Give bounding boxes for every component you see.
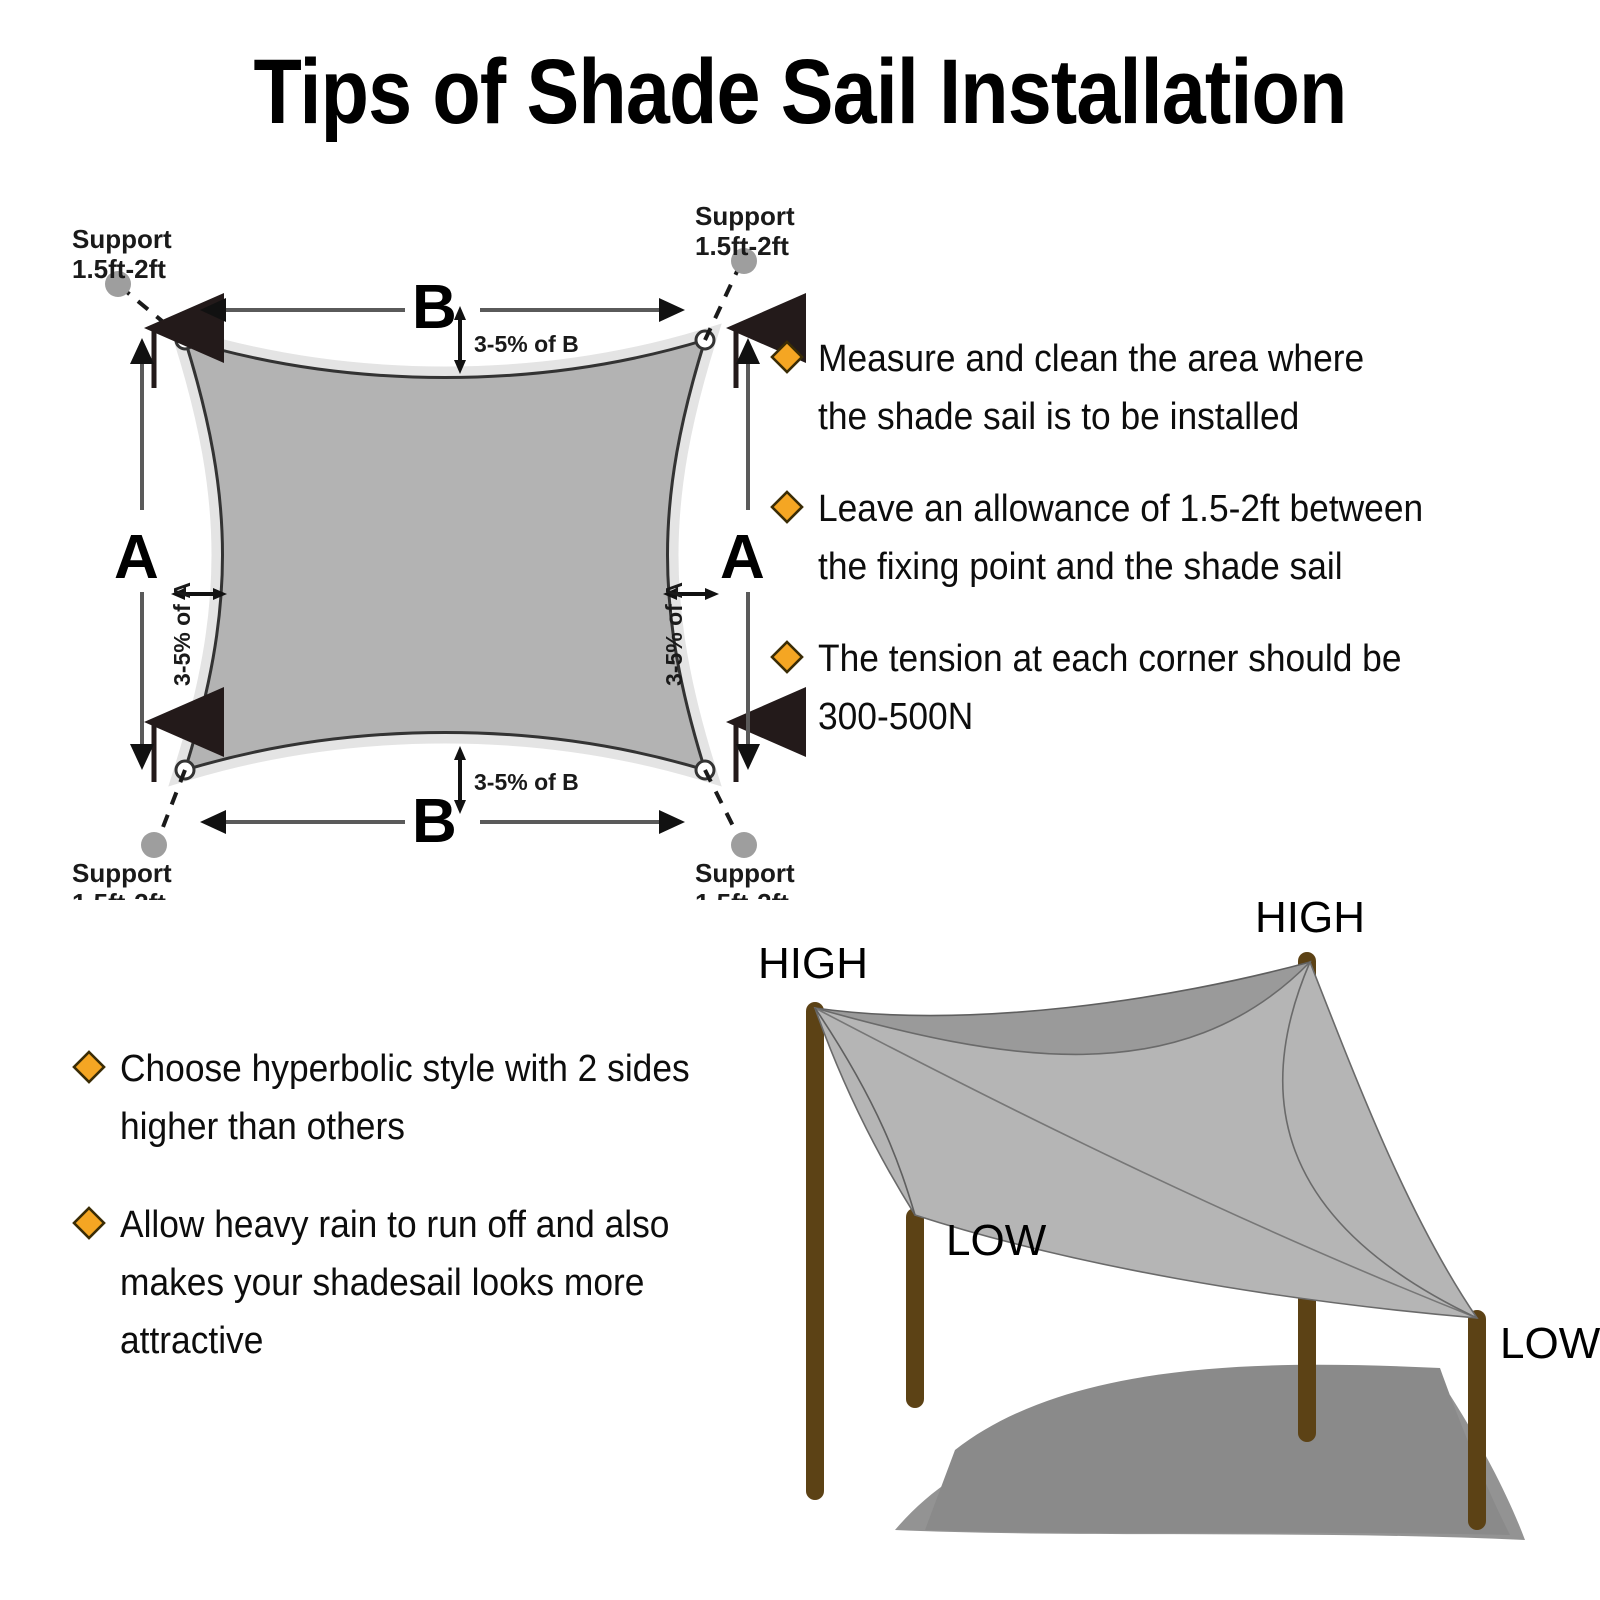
curve-indicator-bottom: 3-5% of B	[454, 746, 579, 814]
diamond-bullet-icon	[770, 490, 804, 524]
tip-item-rain-runoff: Allow heavy rain to run off and also mak…	[72, 1196, 782, 1370]
support-label-top-left-line1: Support	[72, 224, 172, 254]
tip-text: Leave an allowance of 1.5-2ft between th…	[818, 480, 1423, 596]
label-low-left: LOW	[946, 1216, 1047, 1265]
support-label-bottom-right-line1: Support	[695, 858, 795, 888]
support-label-top-right-line1: Support	[695, 201, 795, 231]
post-high-left	[806, 1002, 824, 1500]
ground-shadow-core	[925, 1365, 1510, 1535]
curve-label-bottom: 3-5% of B	[474, 769, 579, 795]
label-high-left: HIGH	[758, 939, 868, 988]
tips-list-right: Measure and clean the area where the sha…	[770, 330, 1570, 780]
dimension-a-right: A	[720, 338, 765, 770]
dimension-label-a-right: A	[720, 523, 765, 592]
dimension-a-left: A	[114, 338, 159, 770]
support-label-top-right-line2: 1.5ft-2ft	[695, 231, 789, 261]
label-high-right: HIGH	[1255, 893, 1365, 942]
tip-text: The tension at each corner should be 300…	[818, 630, 1402, 746]
diamond-bullet-icon	[770, 640, 804, 674]
tip-item-hyperbolic-style: Choose hyperbolic style with 2 sides hig…	[72, 1040, 782, 1156]
tips-list-bottom-left: Choose hyperbolic style with 2 sides hig…	[72, 1040, 782, 1410]
support-label-bottom-left-line2: 1.5ft-2ft	[72, 888, 166, 900]
shade-sail-dimension-diagram: Support 1.5ft-2ft Support 1.5ft-2ft Supp…	[50, 200, 840, 900]
label-low-right: LOW	[1500, 1319, 1600, 1368]
dimension-label-a-left: A	[114, 523, 159, 592]
tip-text: Allow heavy rain to run off and also mak…	[120, 1196, 669, 1370]
hyperbolic-shade-sail-diagram: HIGH HIGH LOW LOW	[750, 890, 1600, 1550]
tip-item-measure-clean: Measure and clean the area where the sha…	[770, 330, 1570, 446]
page-title: Tips of Shade Sail Installation	[112, 42, 1488, 142]
diamond-bullet-icon	[72, 1050, 106, 1084]
curve-label-top: 3-5% of B	[474, 331, 579, 357]
tip-text: Choose hyperbolic style with 2 sides hig…	[120, 1040, 690, 1156]
support-dot-bottom-left	[141, 832, 167, 858]
dimension-b-top: B	[200, 273, 685, 342]
shade-sail-shape	[185, 340, 705, 770]
post-low-left	[906, 1208, 924, 1408]
diamond-bullet-icon	[72, 1206, 106, 1240]
tip-item-allowance: Leave an allowance of 1.5-2ft between th…	[770, 480, 1570, 596]
tip-text: Measure and clean the area where the sha…	[818, 330, 1364, 446]
curve-label-right: 3-5% of A	[661, 582, 687, 686]
diamond-bullet-icon	[770, 340, 804, 374]
support-dot-bottom-right	[731, 832, 757, 858]
support-label-top-left-line2: 1.5ft-2ft	[72, 254, 166, 284]
post-low-right	[1468, 1310, 1486, 1530]
dimension-label-b-bottom: B	[412, 787, 457, 856]
dimension-label-b-top: B	[412, 273, 457, 342]
support-label-bottom-left-line1: Support	[72, 858, 172, 888]
dimension-b-bottom: B	[200, 787, 685, 856]
curve-label-left: 3-5% of A	[169, 582, 195, 686]
tip-item-tension: The tension at each corner should be 300…	[770, 630, 1570, 746]
